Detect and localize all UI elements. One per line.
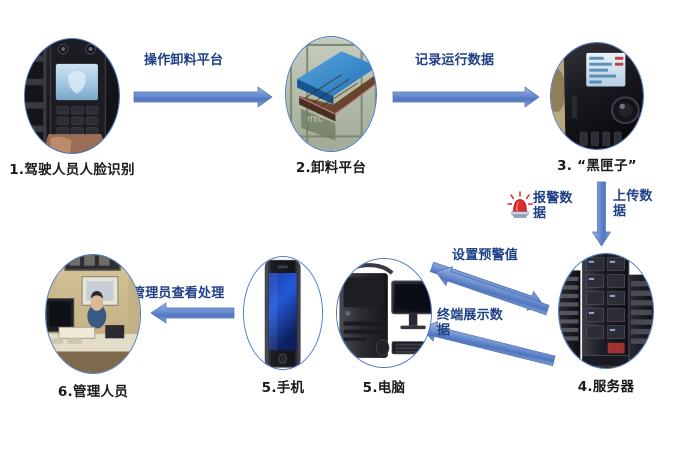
smartphone-photo (243, 256, 323, 370)
diagram-canvas: 操作卸料平台 记录运行数据 上传数 据 报警数 据 设置预警值 终端展示数 据 … (0, 0, 685, 450)
node-mobile-phone[interactable]: 5.手机 (243, 256, 323, 370)
node-caption-driver-face-recognition: 1.驾驶人员人脸识别 (9, 158, 135, 178)
node-caption-computer: 5.电脑 (363, 376, 406, 396)
office-manager-workstation-photo (45, 254, 141, 374)
arrow-manager-review-handling (150, 302, 236, 324)
arrow-operate-unloading-platform (134, 86, 274, 108)
node-oval-manager (45, 254, 141, 374)
node-oval-driver-face-recognition (24, 38, 120, 154)
server-rack-photo (558, 253, 654, 369)
node-caption-black-box: 3. “黑匣子” (557, 154, 637, 174)
arrow-label-upload-data: 上传数 据 (613, 190, 653, 220)
construction-unloading-platform-photo: ITEC (285, 36, 377, 152)
node-manager[interactable]: 6.管理人员 (45, 254, 141, 374)
node-server[interactable]: 4.服务器 (558, 253, 654, 369)
node-computer[interactable]: 5.电脑 (336, 258, 432, 368)
desktop-computer-photo (336, 258, 432, 368)
node-oval-computer (336, 258, 432, 368)
node-oval-unloading-platform: ITEC (285, 36, 377, 152)
arrow-label-set-warning-threshold: 设置预警值 (452, 249, 518, 264)
black-box-recorder-device-photo (550, 42, 644, 150)
node-oval-black-box (550, 42, 644, 150)
node-oval-mobile-phone (243, 256, 323, 370)
node-caption-unloading-platform: 2.卸料平台 (296, 156, 366, 176)
node-oval-server (558, 253, 654, 369)
arrow-record-operation-data (393, 86, 541, 108)
handheld-face-recognition-device-photo (24, 38, 120, 154)
node-caption-manager: 6.管理人员 (58, 380, 128, 400)
node-unloading-platform[interactable]: ITEC 2.卸料平台 (285, 36, 377, 152)
arrow-label-alarm-data: 报警数 据 (533, 192, 573, 222)
arrow-label-terminal-display-data: 终端展示数 据 (437, 309, 503, 339)
arrow-label-manager-review-handling: 管理员查看处理 (132, 287, 224, 302)
node-caption-mobile-phone: 5.手机 (262, 376, 305, 396)
arrow-label-record-operation-data: 记录运行数据 (415, 54, 494, 69)
arrow-label-operate-unloading-platform: 操作卸料平台 (144, 54, 223, 69)
alarm-siren-icon (507, 191, 533, 219)
arrow-upload-data (592, 182, 612, 248)
node-driver-face-recognition[interactable]: 1.驾驶人员人脸识别 (24, 38, 120, 154)
svg-text:ITEC: ITEC (307, 114, 323, 123)
node-black-box[interactable]: 3. “黑匣子” (550, 42, 644, 150)
node-caption-server: 4.服务器 (578, 375, 635, 395)
